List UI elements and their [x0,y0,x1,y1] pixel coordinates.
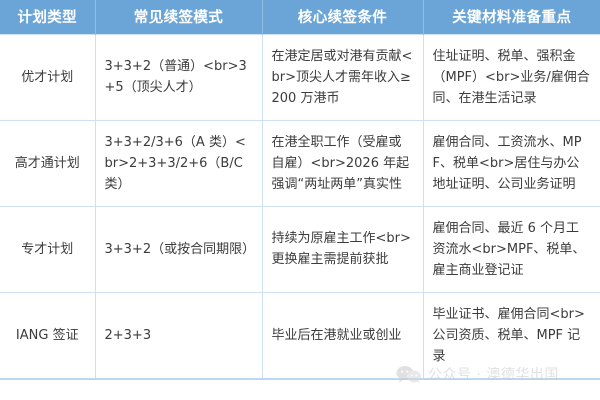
cell-materials: 雇佣合同、工资流水、MPF、税单<br>居住与办公地址证明、公司业务证明 [423,120,600,206]
cell-condition: 在港定居或对港有贡献<br>顶尖人才需年收入≥200 万港币 [262,34,423,120]
renewal-comparison-table: 计划类型 常见续签模式 核心续签条件 关键材料准备重点 优才计划 3+3+2（普… [0,0,600,380]
column-header-plan: 计划类型 [0,0,95,34]
cell-plan: 专才计划 [0,206,95,292]
cell-pattern: 3+3+2（普通）<br>3+5（顶尖人才） [95,34,262,120]
cell-pattern: 3+3+2（或按合同期限） [95,206,262,292]
cell-plan: IANG 签证 [0,292,95,379]
table-row: 优才计划 3+3+2（普通）<br>3+5（顶尖人才） 在港定居或对港有贡献<b… [0,34,600,120]
cell-pattern: 3+3+2/3+6（A 类）<br>2+3+3/2+6（B/C 类） [95,120,262,206]
cell-materials: 住址证明、税单、强积金（MPF）<br>业务/雇佣合同、在港生活记录 [423,34,600,120]
cell-condition: 持续为原雇主工作<br>更换雇主需提前获批 [262,206,423,292]
table-row: 高才通计划 3+3+2/3+6（A 类）<br>2+3+3/2+6（B/C 类）… [0,120,600,206]
cell-condition: 在港全职工作（受雇或自雇）<br>2026 年起强调“两址两单”真实性 [262,120,423,206]
renewal-comparison-table-container: 计划类型 常见续签模式 核心续签条件 关键材料准备重点 优才计划 3+3+2（普… [0,0,600,400]
table-header: 计划类型 常见续签模式 核心续签条件 关键材料准备重点 [0,0,600,34]
table-header-row: 计划类型 常见续签模式 核心续签条件 关键材料准备重点 [0,0,600,34]
column-header-materials: 关键材料准备重点 [423,0,600,34]
table-row: 专才计划 3+3+2（或按合同期限） 持续为原雇主工作<br>更换雇主需提前获批… [0,206,600,292]
cell-plan: 优才计划 [0,34,95,120]
column-header-pattern: 常见续签模式 [95,0,262,34]
cell-materials: 雇佣合同、最近 6 个月工资流水<br>MPF、税单、雇主商业登记证 [423,206,600,292]
cell-condition: 毕业后在港就业或创业 [262,292,423,379]
cell-plan: 高才通计划 [0,120,95,206]
cell-pattern: 2+3+3 [95,292,262,379]
cell-materials: 毕业证书、雇佣合同<br>公司资质、税单、MPF 记录 [423,292,600,379]
column-header-condition: 核心续签条件 [262,0,423,34]
table-row: IANG 签证 2+3+3 毕业后在港就业或创业 毕业证书、雇佣合同<br>公司… [0,292,600,379]
table-body: 优才计划 3+3+2（普通）<br>3+5（顶尖人才） 在港定居或对港有贡献<b… [0,34,600,379]
